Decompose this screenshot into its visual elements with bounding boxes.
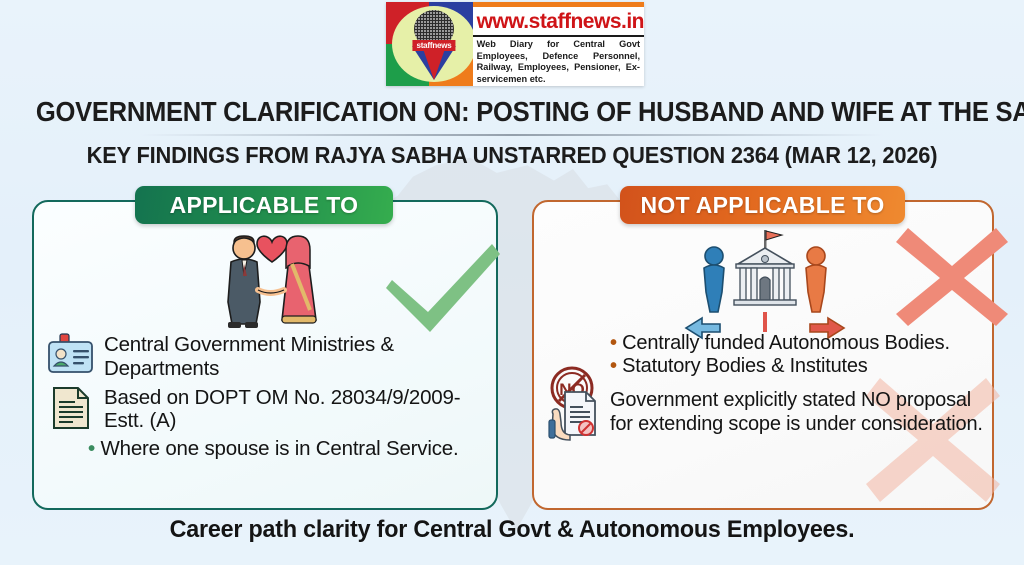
list-item: Government explicitly stated NO proposal…: [548, 388, 988, 442]
large-cross-mark-icon: [890, 222, 1014, 332]
page-subtitle: KEY FINDINGS FROM RAJYA SABHA UNSTARRED …: [26, 142, 999, 169]
list-item: NO • Centrally funded Autonomous Bodies.…: [548, 332, 988, 378]
id-card-icon: [46, 332, 96, 378]
logo-wordmark: staffnews: [412, 40, 455, 51]
large-check-mark-icon: [372, 228, 512, 348]
list-item: • Where one spouse is in Central Service…: [88, 437, 486, 461]
bullet-item: • Centrally funded Autonomous Bodies.: [610, 332, 950, 355]
footer-summary: Career path clarity for Central Govt & A…: [15, 516, 1008, 544]
list-item-label: Government explicitly stated NO proposal…: [610, 388, 988, 435]
married-couple-icon: [214, 224, 330, 336]
brand-tagline: Web Diary for Central Govt Employees, De…: [473, 37, 644, 86]
sub-bullet-label: Where one spouse is in Central Service.: [100, 437, 458, 460]
list-item-label: Based on DOPT OM No. 28034/9/2009-Estt. …: [104, 385, 486, 434]
bullet-item: • Statutory Bodies & Institutes: [610, 355, 950, 378]
bullet-glyph: •: [88, 437, 95, 460]
applicable-content-list: Central Government Ministries & Departme…: [46, 332, 486, 465]
document-icon: [46, 385, 96, 431]
page-title: GOVERNMENT CLARIFICATION ON: POSTING OF …: [36, 96, 988, 128]
bullet-label: Statutory Bodies & Institutes: [622, 355, 867, 377]
no-proposal-document-icon: [548, 388, 602, 442]
list-item: Central Government Ministries & Departme…: [46, 332, 486, 381]
staffnews-logo: staffnews: [386, 2, 473, 86]
list-item: Based on DOPT OM No. 28034/9/2009-Estt. …: [46, 385, 486, 434]
no-sign-icon: NO: [548, 332, 602, 378]
brand-url[interactable]: www.staffnews.in: [473, 7, 644, 37]
list-item-label: Central Government Ministries & Departme…: [104, 332, 486, 381]
sub-bullet-item: • Where one spouse is in Central Service…: [88, 437, 458, 461]
not-applicable-content-list: NO • Centrally funded Autonomous Bodies.…: [548, 332, 988, 446]
bullet-label: Centrally funded Autonomous Bodies.: [622, 332, 950, 354]
government-separate-postings-icon: [676, 226, 856, 344]
title-divider: [140, 134, 884, 136]
bullet-glyph: •: [610, 332, 617, 354]
not-applicable-badge: NOT APPLICABLE TO: [620, 186, 905, 224]
applicable-badge: APPLICABLE TO: [135, 186, 393, 224]
bullet-glyph: •: [610, 355, 617, 377]
site-brand-header: staffnews www.staffnews.in Web Diary for…: [386, 2, 644, 86]
